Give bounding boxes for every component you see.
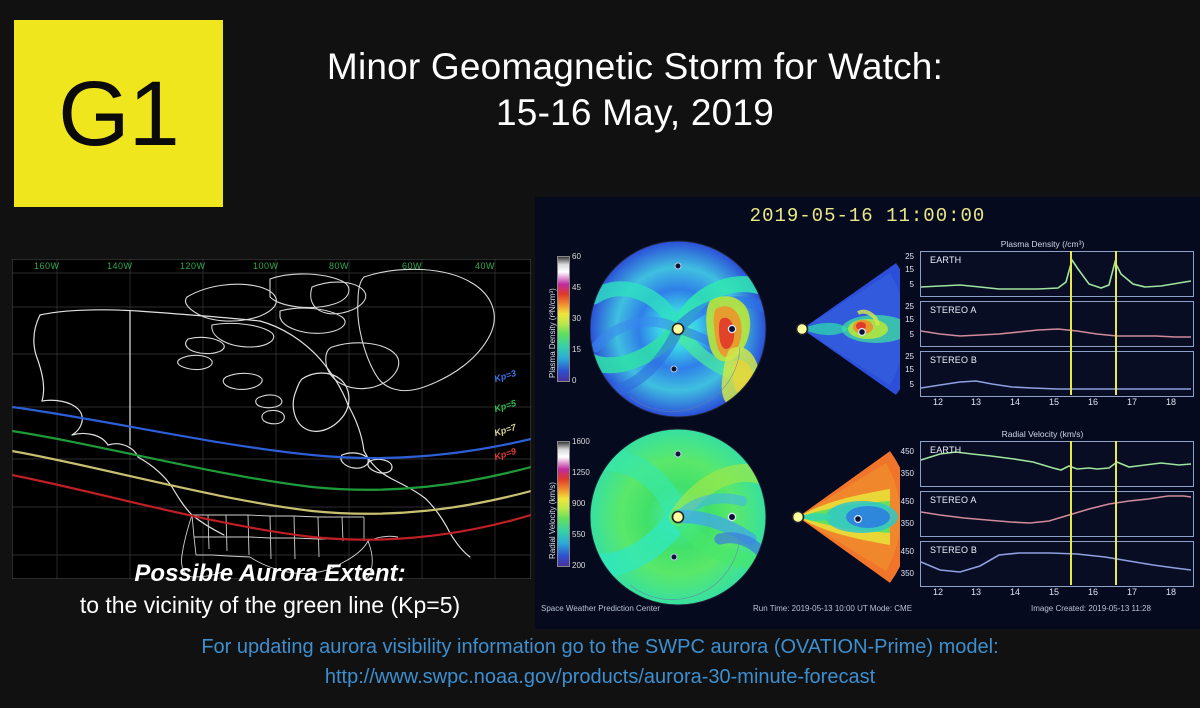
earth-marker-density-meridional	[859, 329, 866, 336]
caption-green-line: to the vicinity of the green line (Kp=5)	[0, 592, 540, 619]
earth-marker-velocity-meridional	[855, 516, 862, 523]
radial-velocity-xtick-17: 17	[1124, 587, 1140, 597]
plasma-density-shock-line-1	[1070, 251, 1072, 395]
plasma-density-ytick-5-stereo-a: 5	[898, 330, 914, 339]
sun-marker-velocity-ecliptic	[673, 512, 684, 523]
plasma-density-ytick-5-stereo-b: 5	[898, 380, 914, 389]
radial-velocity-tick-550: 550	[572, 530, 585, 539]
radial-velocity-xtick-13: 13	[968, 587, 984, 597]
radial-velocity-label-stereo-a: STEREO A	[930, 495, 977, 505]
plasma-density-xtick-15: 15	[1046, 397, 1062, 407]
ovation-link-block[interactable]: For updating aurora visibility informati…	[0, 632, 1200, 692]
enlil-timestamp: 2019-05-16 11:00:00	[535, 205, 1200, 227]
earth-marker-velocity-ecliptic	[728, 513, 735, 520]
lon-label-40w: 40W	[475, 261, 495, 271]
enlil-footer: Space Weather Prediction Center Run Time…	[535, 601, 1200, 621]
radial-velocity-colorbar-title: Radial Velocity (km/s)	[548, 482, 557, 559]
title-line-1: Minor Geomagnetic Storm for Watch:	[240, 44, 1030, 90]
radial-velocity-chart-title: Radial Velocity (km/s)	[890, 429, 1195, 439]
plasma-density-ytick-25-earth: 25	[898, 252, 914, 261]
sun-marker-velocity-meridional	[793, 512, 804, 523]
radial-velocity-ytick-350-stereo-b: 350	[892, 569, 914, 578]
radial-velocity-label-earth: EARTH	[930, 445, 961, 455]
plasma-density-ytick-25-stereo-a: 25	[898, 302, 914, 311]
radial-velocity-label-stereo-b: STEREO B	[930, 545, 977, 555]
radial-velocity-tick-200: 200	[572, 561, 585, 570]
stereo-a-marker-density-ecliptic	[675, 263, 681, 269]
radial-velocity-ytick-450-stereo-b: 450	[892, 547, 914, 556]
plasma-density-tick-15: 15	[572, 345, 581, 354]
radial-velocity-tick-900: 900	[572, 499, 585, 508]
velocity-meridional-plot	[798, 451, 900, 583]
storm-scale-badge: G1	[14, 20, 223, 207]
radial-velocity-xtick-16: 16	[1085, 587, 1101, 597]
plasma-density-colorbar-title: Plasma Density (r²N/cm³)	[548, 288, 557, 378]
plasma-density-shock-line-2	[1115, 251, 1117, 395]
plasma-density-xtick-13: 13	[968, 397, 984, 407]
plasma-density-label-stereo-b: STEREO B	[930, 355, 977, 365]
plasma-density-xtick-16: 16	[1085, 397, 1101, 407]
enlil-footer-center: Space Weather Prediction Center	[541, 604, 660, 613]
enlil-footer-image-created: Image Created: 2019-05-13 11:28	[1031, 604, 1151, 613]
plasma-density-tick-0: 0	[572, 376, 576, 385]
radial-velocity-ytick-350-stereo-a: 350	[892, 519, 914, 528]
plasma-density-earth-line	[921, 252, 1191, 294]
plasma-density-label-earth: EARTH	[930, 255, 961, 265]
plasma-density-xtick-12: 12	[930, 397, 946, 407]
plasma-density-tick-45: 45	[572, 283, 581, 292]
plasma-density-xtick-14: 14	[1007, 397, 1023, 407]
radial-velocity-xtick-12: 12	[930, 587, 946, 597]
plasma-density-timeseries-chart: Plasma Density (/cm³) EARTH 25 15 5 STER…	[890, 239, 1195, 419]
stereo-b-marker-density-ecliptic	[671, 366, 677, 372]
stereo-a-marker-velocity-ecliptic	[675, 451, 681, 457]
plasma-density-label-stereo-a: STEREO A	[930, 305, 977, 315]
stereo-b-marker-velocity-ecliptic	[671, 554, 677, 560]
earth-marker-density-ecliptic	[728, 325, 735, 332]
radial-velocity-xtick-14: 14	[1007, 587, 1023, 597]
radial-velocity-shock-line-2	[1115, 441, 1117, 585]
ovation-link-text: For updating aurora visibility informati…	[0, 632, 1200, 662]
radial-velocity-ytick-350-earth: 350	[892, 469, 914, 478]
map-graphic	[12, 259, 531, 579]
density-meridional-plot	[802, 263, 900, 395]
plasma-density-ytick-15-earth: 15	[898, 265, 914, 274]
storm-scale-label: G1	[58, 68, 179, 160]
page-title: Minor Geomagnetic Storm for Watch: 15-16…	[240, 44, 1030, 136]
plasma-density-chart-title: Plasma Density (/cm³)	[890, 239, 1195, 249]
lon-label-80w: 80W	[329, 261, 349, 271]
radial-velocity-colorbar-gradient	[557, 441, 570, 567]
plasma-density-ytick-15-stereo-a: 15	[898, 315, 914, 324]
plasma-density-colorbar-gradient	[557, 256, 570, 382]
lon-label-140w: 140W	[107, 261, 133, 271]
ovation-link-url[interactable]: http://www.swpc.noaa.gov/products/aurora…	[0, 662, 1200, 692]
plasma-density-ytick-25-stereo-b: 25	[898, 352, 914, 361]
radial-velocity-xtick-18: 18	[1163, 587, 1179, 597]
sun-marker-density-ecliptic	[673, 324, 684, 335]
lon-label-160w: 160W	[34, 261, 60, 271]
plasma-density-ytick-15-stereo-b: 15	[898, 365, 914, 374]
slide-root: G1 Minor Geomagnetic Storm for Watch: 15…	[0, 0, 1200, 708]
lon-label-60w: 60W	[402, 261, 422, 271]
lon-label-100w: 100W	[253, 261, 279, 271]
plasma-density-xtick-17: 17	[1124, 397, 1140, 407]
caption-aurora-extent: Possible Aurora Extent:	[0, 560, 540, 588]
radial-velocity-ytick-450-stereo-a: 450	[892, 497, 914, 506]
plasma-density-ytick-5-earth: 5	[898, 280, 914, 289]
enlil-model-plots	[590, 239, 900, 619]
title-line-2: 15-16 May, 2019	[240, 90, 1030, 136]
wsa-enlil-panel: 2019-05-16 11:00:00 Plasma Density (r²N/…	[535, 197, 1200, 629]
plasma-density-tick-60: 60	[572, 252, 581, 261]
radial-velocity-tick-1250: 1250	[572, 468, 590, 477]
radial-velocity-xtick-15: 15	[1046, 587, 1062, 597]
radial-velocity-tick-1600: 1600	[572, 437, 590, 446]
plasma-density-xtick-18: 18	[1163, 397, 1179, 407]
radial-velocity-earth-line	[921, 442, 1191, 484]
radial-velocity-timeseries-chart: Radial Velocity (km/s) EARTH 450 350 STE…	[890, 429, 1195, 609]
lon-label-120w: 120W	[180, 261, 206, 271]
sun-marker-density-meridional	[797, 324, 808, 335]
aurora-extent-map: 160W 140W 120W 100W 80W 60W 40W Kp=3 Kp=…	[12, 259, 531, 579]
enlil-footer-runtime: Run Time: 2019-05-13 10:00 UT Mode: CME	[753, 604, 912, 613]
radial-velocity-ytick-450-earth: 450	[892, 447, 914, 456]
radial-velocity-shock-line-1	[1070, 441, 1072, 585]
plasma-density-tick-30: 30	[572, 314, 581, 323]
